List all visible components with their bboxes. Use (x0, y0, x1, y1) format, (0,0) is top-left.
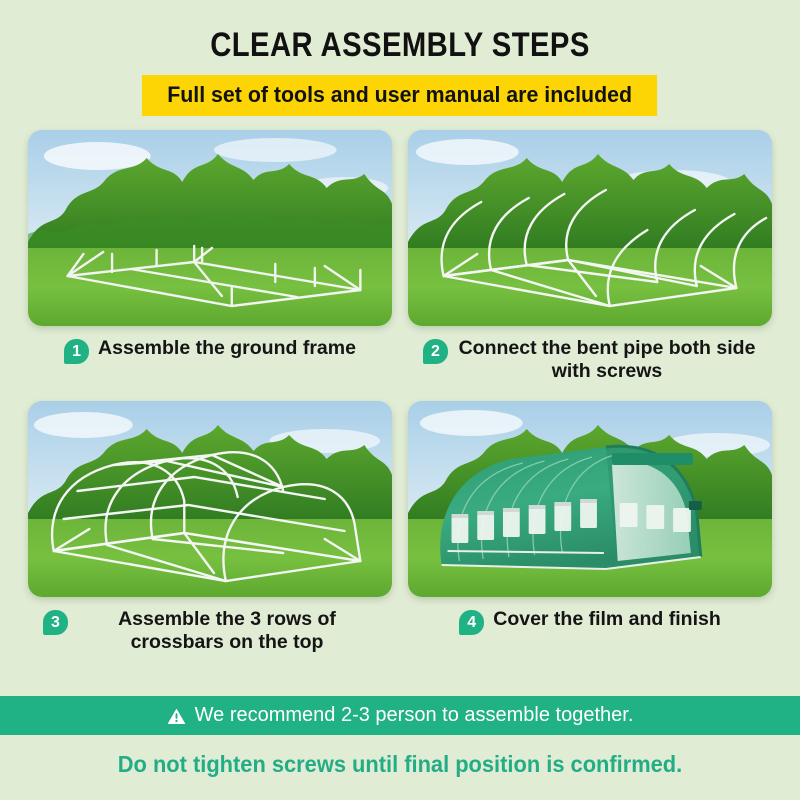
step-number-badge: 1 (64, 339, 89, 364)
step-caption-text: Assemble the 3 rows of crossbars on the … (77, 608, 377, 653)
warning-triangle-icon (167, 707, 186, 725)
step-3-caption: 3 Assemble the 3 rows of crossbars on th… (28, 597, 392, 666)
greenhouse-ground-frame-photo (28, 130, 392, 326)
step-number-badge: 2 (423, 339, 448, 364)
step-caption-text: Connect the bent pipe both side with scr… (457, 337, 757, 382)
assembly-step-2: 2 Connect the bent pipe both side with s… (408, 130, 772, 395)
page-title: CLEAR ASSEMBLY STEPS (56, 0, 744, 65)
recommendation-bar: We recommend 2-3 person to assemble toge… (0, 696, 800, 735)
footer: We recommend 2-3 person to assemble toge… (0, 696, 800, 800)
step-number-badge: 3 (43, 610, 68, 635)
assembly-step-3: 3 Assemble the 3 rows of crossbars on th… (28, 401, 392, 666)
footer-warning-note: Do not tighten screws until final positi… (20, 735, 780, 800)
assembly-step-1: 1 Assemble the ground frame (28, 130, 392, 395)
subtitle-banner-wrap: Full set of tools and user manual are in… (0, 75, 800, 116)
step-2-caption: 2 Connect the bent pipe both side with s… (408, 326, 772, 395)
step-1-caption: 1 Assemble the ground frame (28, 326, 392, 395)
step-caption-text: Cover the film and finish (493, 608, 721, 631)
subtitle-banner: Full set of tools and user manual are in… (142, 75, 657, 116)
assembly-step-4: 4 Cover the film and finish (408, 401, 772, 666)
step-number-badge: 4 (459, 610, 484, 635)
recommendation-text: We recommend 2-3 person to assemble toge… (195, 704, 634, 727)
step-caption-text: Assemble the ground frame (98, 337, 356, 360)
assembly-steps-grid: 1 Assemble the ground frame (28, 130, 772, 666)
greenhouse-bent-pipes-photo (408, 130, 772, 326)
greenhouse-finished-photo (408, 401, 772, 597)
step-4-caption: 4 Cover the film and finish (408, 597, 772, 666)
greenhouse-crossbars-photo (28, 401, 392, 597)
